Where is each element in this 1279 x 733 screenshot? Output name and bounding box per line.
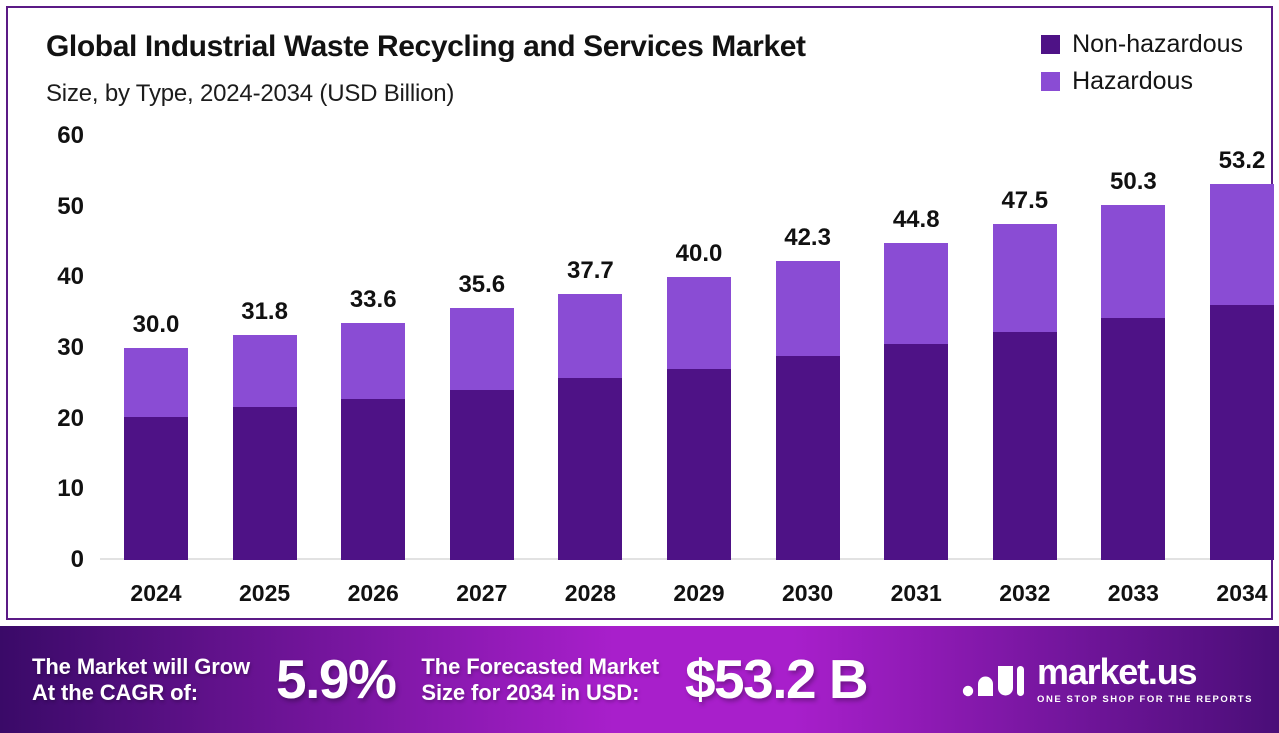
chart-card: Global Industrial Waste Recycling and Se… — [6, 6, 1273, 620]
footer-banner: The Market will Grow At the CAGR of: 5.9… — [0, 626, 1279, 733]
x-axis-tick-label: 2026 — [348, 580, 399, 607]
bar-segment-hazardous[interactable] — [884, 243, 948, 344]
cagr-label: The Market will Grow At the CAGR of: — [32, 654, 250, 706]
bar-group[interactable]: 44.82031 — [884, 243, 948, 560]
bar-group[interactable]: 33.62026 — [341, 323, 405, 560]
bar-segment-hazardous[interactable] — [1210, 184, 1274, 305]
logo-tagline: ONE STOP SHOP FOR THE REPORTS — [1037, 694, 1253, 705]
bar-segment-non-hazardous[interactable] — [1101, 318, 1165, 560]
stacked-bar[interactable]: 35.6 — [450, 308, 514, 560]
infographic-root: Global Industrial Waste Recycling and Se… — [0, 0, 1279, 733]
legend-item-label: Non-hazardous — [1072, 32, 1243, 57]
bar-total-label: 44.8 — [893, 206, 940, 234]
stacked-bar[interactable]: 31.8 — [233, 335, 297, 560]
x-axis-tick-label: 2027 — [456, 580, 507, 607]
x-axis-tick-label: 2024 — [130, 580, 181, 607]
bar-group[interactable]: 37.72028 — [558, 294, 622, 560]
bar-total-label: 30.0 — [133, 311, 180, 339]
legend-item-label: Hazardous — [1072, 69, 1193, 94]
bar-group[interactable]: 40.02029 — [667, 277, 731, 560]
bar-group[interactable]: 35.62027 — [450, 308, 514, 560]
bar-segment-non-hazardous[interactable] — [341, 399, 405, 560]
bar-group[interactable]: 42.32030 — [776, 261, 840, 560]
stacked-bar[interactable]: 53.2 — [1210, 184, 1274, 560]
bar-total-label: 53.2 — [1219, 147, 1266, 175]
bar-total-label: 50.3 — [1110, 168, 1157, 196]
x-axis-tick-label: 2033 — [1108, 580, 1159, 607]
bar-segment-hazardous[interactable] — [993, 224, 1057, 332]
bar-segment-non-hazardous[interactable] — [667, 369, 731, 561]
legend-item[interactable]: Hazardous — [1041, 69, 1193, 94]
chart-plot-area: 010203040506030.0202431.8202533.6202635.… — [100, 136, 1250, 560]
market-us-logo-icon — [961, 658, 1025, 702]
bar-total-label: 47.5 — [1001, 187, 1048, 215]
bar-total-label: 40.0 — [676, 240, 723, 268]
bar-group[interactable]: 53.22034 — [1210, 184, 1274, 560]
cagr-value: 5.9% — [276, 652, 395, 707]
y-axis-tick-label: 0 — [71, 546, 84, 574]
bar-segment-non-hazardous[interactable] — [1210, 305, 1274, 560]
x-axis-tick-label: 2028 — [565, 580, 616, 607]
y-axis-tick-label: 30 — [57, 334, 84, 362]
bar-segment-hazardous[interactable] — [1101, 205, 1165, 319]
bar-segment-non-hazardous[interactable] — [450, 390, 514, 560]
bar-segment-non-hazardous[interactable] — [233, 407, 297, 560]
stacked-bar[interactable]: 44.8 — [884, 243, 948, 560]
stacked-bar[interactable]: 42.3 — [776, 261, 840, 560]
bar-group[interactable]: 47.52032 — [993, 224, 1057, 560]
bar-segment-non-hazardous[interactable] — [558, 378, 622, 560]
stacked-bar[interactable]: 50.3 — [1101, 205, 1165, 560]
x-axis-tick-label: 2031 — [891, 580, 942, 607]
bar-segment-hazardous[interactable] — [124, 348, 188, 417]
bar-segment-hazardous[interactable] — [341, 323, 405, 399]
bar-group[interactable]: 50.32033 — [1101, 205, 1165, 560]
stacked-bar[interactable]: 40.0 — [667, 277, 731, 560]
bar-total-label: 35.6 — [458, 271, 505, 299]
bar-segment-non-hazardous[interactable] — [776, 356, 840, 560]
y-axis-tick-label: 20 — [57, 405, 84, 433]
bar-segment-hazardous[interactable] — [558, 294, 622, 379]
forecast-value: $53.2 B — [685, 652, 867, 707]
bar-segment-hazardous[interactable] — [450, 308, 514, 389]
bar-segment-hazardous[interactable] — [233, 335, 297, 407]
legend-item[interactable]: Non-hazardous — [1041, 32, 1243, 57]
forecast-label: The Forecasted Market Size for 2034 in U… — [421, 654, 659, 706]
stacked-bar[interactable]: 37.7 — [558, 294, 622, 560]
chart-legend: Non-hazardousHazardous — [1041, 32, 1243, 94]
y-axis-tick-label: 40 — [57, 263, 84, 291]
bar-total-label: 42.3 — [784, 224, 831, 252]
bar-segment-non-hazardous[interactable] — [884, 344, 948, 560]
page-title: Global Industrial Waste Recycling and Se… — [46, 30, 806, 64]
x-axis-tick-label: 2030 — [782, 580, 833, 607]
bar-group[interactable]: 31.82025 — [233, 335, 297, 560]
bar-total-label: 33.6 — [350, 286, 397, 314]
x-axis-tick-label: 2034 — [1216, 580, 1267, 607]
bar-segment-hazardous[interactable] — [776, 261, 840, 356]
bar-segment-non-hazardous[interactable] — [993, 332, 1057, 560]
x-axis-tick-label: 2032 — [999, 580, 1050, 607]
legend-swatch-icon — [1041, 35, 1060, 54]
legend-swatch-icon — [1041, 72, 1060, 91]
stacked-bar[interactable]: 30.0 — [124, 348, 188, 560]
market-us-logo[interactable]: market.us ONE STOP SHOP FOR THE REPORTS — [961, 654, 1253, 705]
page-subtitle: Size, by Type, 2024-2034 (USD Billion) — [46, 80, 454, 108]
bar-segment-non-hazardous[interactable] — [124, 417, 188, 560]
y-axis-tick-label: 10 — [57, 475, 84, 503]
stacked-bar[interactable]: 47.5 — [993, 224, 1057, 560]
bar-total-label: 37.7 — [567, 257, 614, 285]
bar-total-label: 31.8 — [241, 298, 288, 326]
x-axis-tick-label: 2029 — [673, 580, 724, 607]
bar-segment-hazardous[interactable] — [667, 277, 731, 368]
y-axis-tick-label: 50 — [57, 193, 84, 221]
logo-wordmark: market.us — [1037, 654, 1196, 690]
x-axis-tick-label: 2025 — [239, 580, 290, 607]
y-axis-tick-label: 60 — [57, 122, 84, 150]
bar-group[interactable]: 30.02024 — [124, 348, 188, 560]
stacked-bar[interactable]: 33.6 — [341, 323, 405, 560]
